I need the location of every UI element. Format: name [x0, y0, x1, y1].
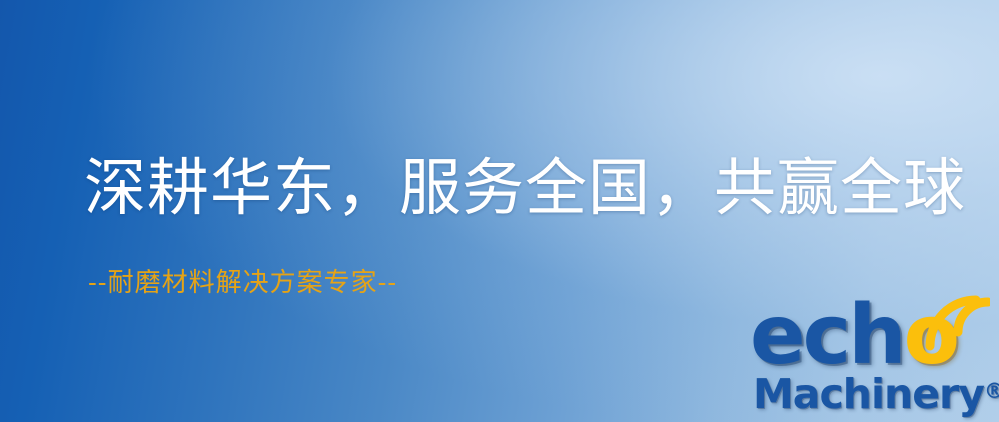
logo-word-prefix: ech: [750, 288, 904, 383]
logo-subtext: Machinery®: [753, 370, 999, 418]
logo-subtext-label: Machinery: [753, 370, 984, 418]
registered-trademark-icon: ®: [984, 379, 999, 403]
hero-banner: 深耕华东，服务全国，共赢全球 --耐磨材料解决方案专家-- echo Machi…: [0, 0, 999, 422]
echo-machinery-logo[interactable]: echo Machinery®: [748, 296, 992, 420]
logo-mark: echo: [748, 296, 992, 376]
signal-waves-icon: [924, 294, 990, 352]
banner-subtitle: --耐磨材料解决方案专家--: [88, 266, 397, 300]
banner-headline: 深耕华东，服务全国，共赢全球: [84, 152, 966, 224]
